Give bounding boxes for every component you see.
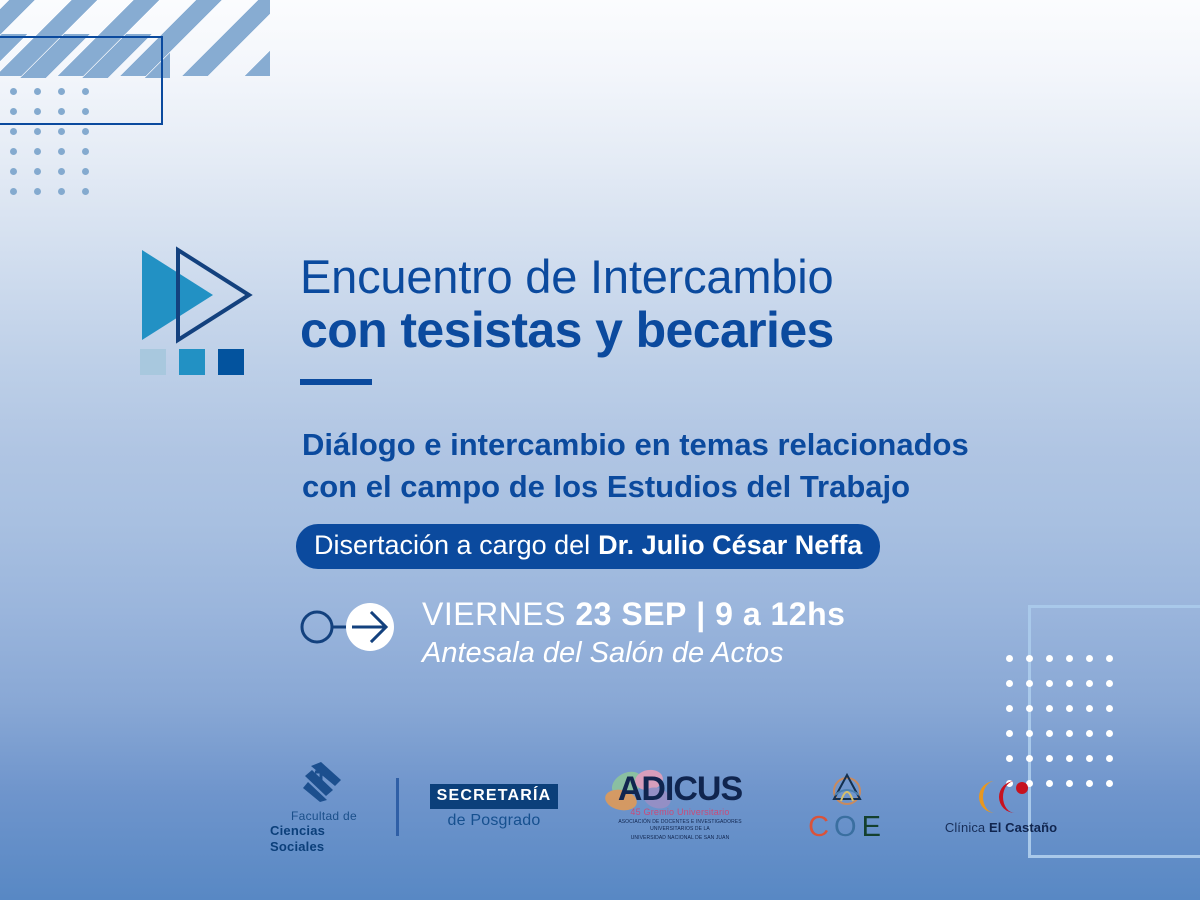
schedule-text: VIERNES 23 SEP | 9 a 12hs Antesala del S… bbox=[422, 596, 845, 671]
logo-clinica-el-castano: Clínica El Castaño bbox=[941, 779, 1061, 835]
facultad-emblem-icon bbox=[301, 760, 347, 804]
adicus-wordmark: ADICUS bbox=[618, 772, 742, 806]
schedule-day-label: VIERNES bbox=[422, 596, 566, 632]
play-triangles-icon bbox=[140, 245, 275, 345]
clinica-wordmark: Clínica El Castaño bbox=[945, 820, 1057, 835]
coe-letter-c: C bbox=[808, 811, 834, 843]
schedule-row: VIERNES 23 SEP | 9 a 12hs Antesala del S… bbox=[300, 596, 845, 671]
event-subtitle-line-2: con el campo de los Estudios del Trabajo bbox=[302, 466, 1092, 508]
square-accent-navy bbox=[218, 349, 244, 375]
square-accent-row bbox=[140, 349, 244, 375]
logo-adicus: ADICUS 45 Gremio Universitario ASOCIACIÓ… bbox=[605, 772, 755, 841]
event-flyer: Encuentro de Intercambio con tesistas y … bbox=[0, 0, 1200, 900]
logo-secretaria-posgrado: SECRETARÍA de Posgrado bbox=[429, 784, 559, 830]
title-block: Encuentro de Intercambio con tesistas y … bbox=[300, 252, 1060, 385]
event-subtitle-line-1: Diálogo e intercambio en temas relaciona… bbox=[302, 424, 1092, 466]
coe-wordmark: COE bbox=[808, 811, 886, 844]
schedule-separator: | bbox=[696, 596, 705, 632]
secretaria-tag: SECRETARÍA bbox=[430, 784, 559, 809]
coe-letter-o: O bbox=[834, 811, 862, 843]
speaker-badge: Disertación a cargo del Dr. Julio César … bbox=[296, 524, 880, 569]
square-accent-teal bbox=[179, 349, 205, 375]
square-accent-light bbox=[140, 349, 166, 375]
clinica-crescent-icon bbox=[965, 779, 1037, 815]
event-subtitle: Diálogo e intercambio en temas relaciona… bbox=[302, 424, 1092, 508]
schedule-datetime-line: VIERNES 23 SEP | 9 a 12hs bbox=[422, 596, 845, 633]
brand-mark bbox=[140, 245, 275, 375]
speaker-prefix-label: Disertación a cargo del bbox=[314, 530, 590, 561]
arrow-right-icon bbox=[300, 602, 398, 652]
coe-letter-e: E bbox=[862, 811, 886, 843]
coe-triquetra-icon bbox=[821, 771, 873, 809]
logo-coe: COE bbox=[797, 771, 897, 844]
dot-grid-decoration-top-left bbox=[10, 88, 106, 208]
adicus-fineprint-line-2: UNIVERSIDAD NACIONAL DE SAN JUAN bbox=[631, 835, 730, 842]
event-title-line-1: Encuentro de Intercambio bbox=[300, 252, 1060, 301]
speaker-name: Dr. Julio César Neffa bbox=[598, 530, 862, 561]
clinica-word-thin: Clínica bbox=[945, 820, 985, 835]
event-title-line-2: con tesistas y becaries bbox=[300, 303, 1060, 357]
facultad-caption-top: Facultad de bbox=[291, 809, 357, 823]
logo-facultad-ciencias-sociales: Facultad de Ciencias Sociales bbox=[270, 760, 378, 854]
schedule-date: 23 SEP bbox=[575, 596, 687, 632]
clinica-word-bold: El Castaño bbox=[989, 820, 1057, 835]
sponsor-logo-strip: Facultad de Ciencias Sociales SECRETARÍA… bbox=[270, 752, 1061, 862]
title-underline-rule bbox=[300, 379, 372, 385]
schedule-time: 9 a 12hs bbox=[715, 596, 845, 632]
secretaria-subtitle: de Posgrado bbox=[448, 812, 541, 830]
facultad-caption-bottom: Ciencias Sociales bbox=[270, 823, 378, 854]
logo-divider bbox=[396, 778, 399, 836]
schedule-venue: Antesala del Salón de Actos bbox=[422, 635, 845, 671]
